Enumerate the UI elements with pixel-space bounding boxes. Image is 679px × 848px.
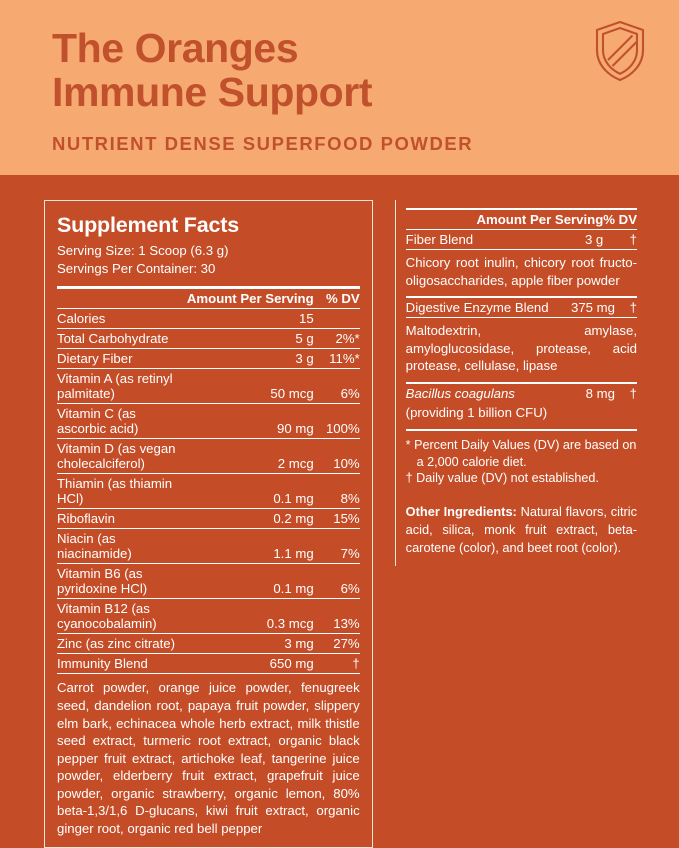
nutrient-name: Total Carbohydrate <box>57 329 187 349</box>
panels-region: Supplement Facts Serving Size: 1 Scoop (… <box>0 175 679 679</box>
servings-per-container: Servings Per Container: 30 <box>57 260 360 278</box>
nutrient-dv: † <box>603 230 637 250</box>
nutrient-amount: 0.3 mcg <box>187 599 314 634</box>
spacer-cell <box>615 403 637 422</box>
secondary-facts-panel: Amount Per Serving % DV Fiber Blend 3 g … <box>395 200 647 566</box>
nutrient-name: Immunity Blend <box>57 654 187 674</box>
spacer-cell <box>579 403 615 422</box>
table-row: Vitamin D (as vegan cholecalciferol) 2 m… <box>57 439 360 474</box>
table-row: Calories 15 <box>57 309 360 329</box>
nutrient-dv: 2%* <box>314 329 360 349</box>
nutrient-dv: 27% <box>314 634 360 654</box>
table-row-probiotic: Bacillus coagulans 8 mg † <box>406 384 637 403</box>
nutrient-name: Thiamin (as thiamin HCl) <box>57 474 187 509</box>
nutrient-name: Vitamin D (as vegan cholecalciferol) <box>57 439 187 474</box>
nutrient-name: Vitamin B6 (as pyridoxine HCl) <box>57 564 187 599</box>
footnotes: * Percent Daily Values (DV) are based on… <box>406 431 637 488</box>
nutrient-dv: 7% <box>314 529 360 564</box>
nutrient-amount: 0.1 mg <box>187 564 314 599</box>
supplement-facts-table: Amount Per Serving % DV Calories 15 Tota… <box>57 289 360 674</box>
nutrient-dv: 13% <box>314 599 360 634</box>
nutrient-name: Vitamin B12 (as cyanocobalamin) <box>57 599 187 634</box>
table-row: Thiamin (as thiamin HCl) 0.1 mg 8% <box>57 474 360 509</box>
nutrient-amount: 650 mg <box>187 654 314 674</box>
header-band: The Oranges Immune Support NUTRIENT DENS… <box>0 0 679 175</box>
nutrient-dv: † <box>615 384 637 403</box>
table-header-row: Amount Per Serving % DV <box>406 210 637 230</box>
probiotic-cfu-note: (providing 1 billion CFU) <box>406 403 579 422</box>
table-row: Vitamin B6 (as pyridoxine HCl) 0.1 mg 6% <box>57 564 360 599</box>
enzyme-blend-ingredients: Maltodextrin, amylase, amyloglucosidase,… <box>406 318 637 375</box>
nutrient-name: Vitamin C (as ascorbic acid) <box>57 404 187 439</box>
nutrient-amount: 1.1 mg <box>187 529 314 564</box>
supplement-facts-title: Supplement Facts <box>57 213 360 238</box>
nutrient-amount: 0.1 mg <box>187 474 314 509</box>
fiber-blend-table: Amount Per Serving % DV Fiber Blend 3 g … <box>406 210 637 249</box>
table-row: Vitamin B12 (as cyanocobalamin) 0.3 mcg … <box>57 599 360 634</box>
nutrient-dv: 15% <box>314 509 360 529</box>
nutrient-name: Zinc (as zinc citrate) <box>57 634 187 654</box>
nutrient-name: Bacillus coagulans <box>406 384 579 403</box>
other-ingredients-label: Other Ingredients: <box>406 504 517 519</box>
header-blank <box>57 289 187 309</box>
nutrient-dv: 100% <box>314 404 360 439</box>
nutrient-name: Calories <box>57 309 187 329</box>
header-percent-dv: % DV <box>314 289 360 309</box>
nutrient-dv: 11%* <box>314 349 360 369</box>
header-amount-per-serving: Amount Per Serving <box>474 210 603 230</box>
nutrient-amount: 3 g <box>474 230 603 250</box>
shield-icon <box>593 20 647 82</box>
header-blank <box>406 210 475 230</box>
nutrient-amount: 0.2 mg <box>187 509 314 529</box>
table-row: Vitamin C (as ascorbic acid) 90 mg 100% <box>57 404 360 439</box>
immunity-blend-ingredients: Carrot powder, orange juice powder, fenu… <box>57 674 360 837</box>
table-row-probiotic-sub: (providing 1 billion CFU) <box>406 403 637 422</box>
page-subtitle: NUTRIENT DENSE SUPERFOOD POWDER <box>52 133 649 155</box>
nutrient-name: Niacin (as niacinamide) <box>57 529 187 564</box>
nutrient-dv: 6% <box>314 369 360 404</box>
table-row-immunity-blend: Immunity Blend 650 mg † <box>57 654 360 674</box>
table-row: Total Carbohydrate 5 g 2%* <box>57 329 360 349</box>
supplement-facts-panel: Supplement Facts Serving Size: 1 Scoop (… <box>44 200 373 848</box>
footnote-asterisk: * Percent Daily Values (DV) are based on… <box>406 437 637 471</box>
table-row-fiber-blend: Fiber Blend 3 g † <box>406 230 637 250</box>
nutrient-name: Dietary Fiber <box>57 349 187 369</box>
nutrient-amount: 2 mcg <box>187 439 314 474</box>
nutrient-amount: 375 mg <box>566 298 615 317</box>
table-row: Zinc (as zinc citrate) 3 mg 27% <box>57 634 360 654</box>
nutrient-dv: 10% <box>314 439 360 474</box>
nutrient-amount: 90 mg <box>187 404 314 439</box>
table-row: Vitamin A (as retinyl palmitate) 50 mcg … <box>57 369 360 404</box>
nutrient-dv: † <box>314 654 360 674</box>
nutrient-dv: † <box>615 298 637 317</box>
nutrient-name: Digestive Enzyme Blend <box>406 298 566 317</box>
fiber-blend-ingredients: Chicory root inulin, chicory root fructo… <box>406 250 637 289</box>
nutrient-amount: 3 g <box>187 349 314 369</box>
nutrient-name: Fiber Blend <box>406 230 475 250</box>
nutrient-dv <box>314 309 360 329</box>
table-row: Dietary Fiber 3 g 11%* <box>57 349 360 369</box>
table-row: Riboflavin 0.2 mg 15% <box>57 509 360 529</box>
serving-size: Serving Size: 1 Scoop (6.3 g) <box>57 242 360 260</box>
nutrient-name: Riboflavin <box>57 509 187 529</box>
table-row-enzyme-blend: Digestive Enzyme Blend 375 mg † <box>406 298 637 317</box>
nutrient-amount: 15 <box>187 309 314 329</box>
page-title: The Oranges Immune Support <box>52 26 649 115</box>
nutrient-name: Vitamin A (as retinyl palmitate) <box>57 369 187 404</box>
footnote-dagger: † Daily value (DV) not established. <box>406 470 637 487</box>
nutrient-amount: 8 mg <box>579 384 615 403</box>
nutrient-dv: 8% <box>314 474 360 509</box>
nutrient-dv: 6% <box>314 564 360 599</box>
header-amount-per-serving: Amount Per Serving <box>187 289 314 309</box>
other-ingredients: Other Ingredients: Natural flavors, citr… <box>406 503 637 556</box>
table-header-row: Amount Per Serving % DV <box>57 289 360 309</box>
probiotic-table: Bacillus coagulans 8 mg † (providing 1 b… <box>406 384 637 422</box>
nutrient-amount: 50 mcg <box>187 369 314 404</box>
nutrient-amount: 3 mg <box>187 634 314 654</box>
table-row: Niacin (as niacinamide) 1.1 mg 7% <box>57 529 360 564</box>
enzyme-blend-table: Digestive Enzyme Blend 375 mg † <box>406 298 637 317</box>
nutrient-amount: 5 g <box>187 329 314 349</box>
header-percent-dv: % DV <box>603 210 637 230</box>
